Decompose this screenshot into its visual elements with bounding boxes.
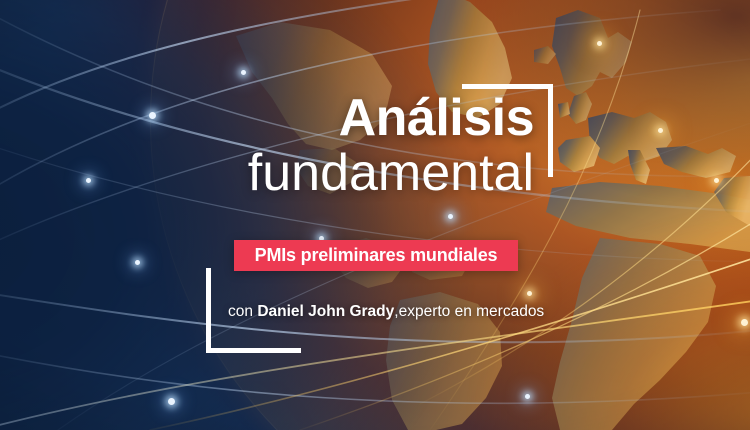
topic-banner: PMIs preliminares mundiales	[234, 240, 518, 271]
speaker-byline: con Daniel John Grady,experto en mercado…	[228, 303, 544, 321]
title-line-primary: Análisis	[0, 92, 534, 144]
byline-speaker-name: Daniel John Grady	[257, 303, 394, 320]
title-line-secondary: fundamental	[0, 144, 534, 202]
topic-banner-label: PMIs preliminares mundiales	[255, 245, 498, 266]
promo-banner-canvas: Análisis fundamental PMIs preliminares m…	[0, 0, 750, 430]
byline-prefix: con	[228, 303, 257, 320]
banner-content: Análisis fundamental PMIs preliminares m…	[0, 0, 750, 430]
byline-role: experto en mercados	[399, 303, 545, 320]
page-title: Análisis fundamental	[0, 92, 534, 202]
